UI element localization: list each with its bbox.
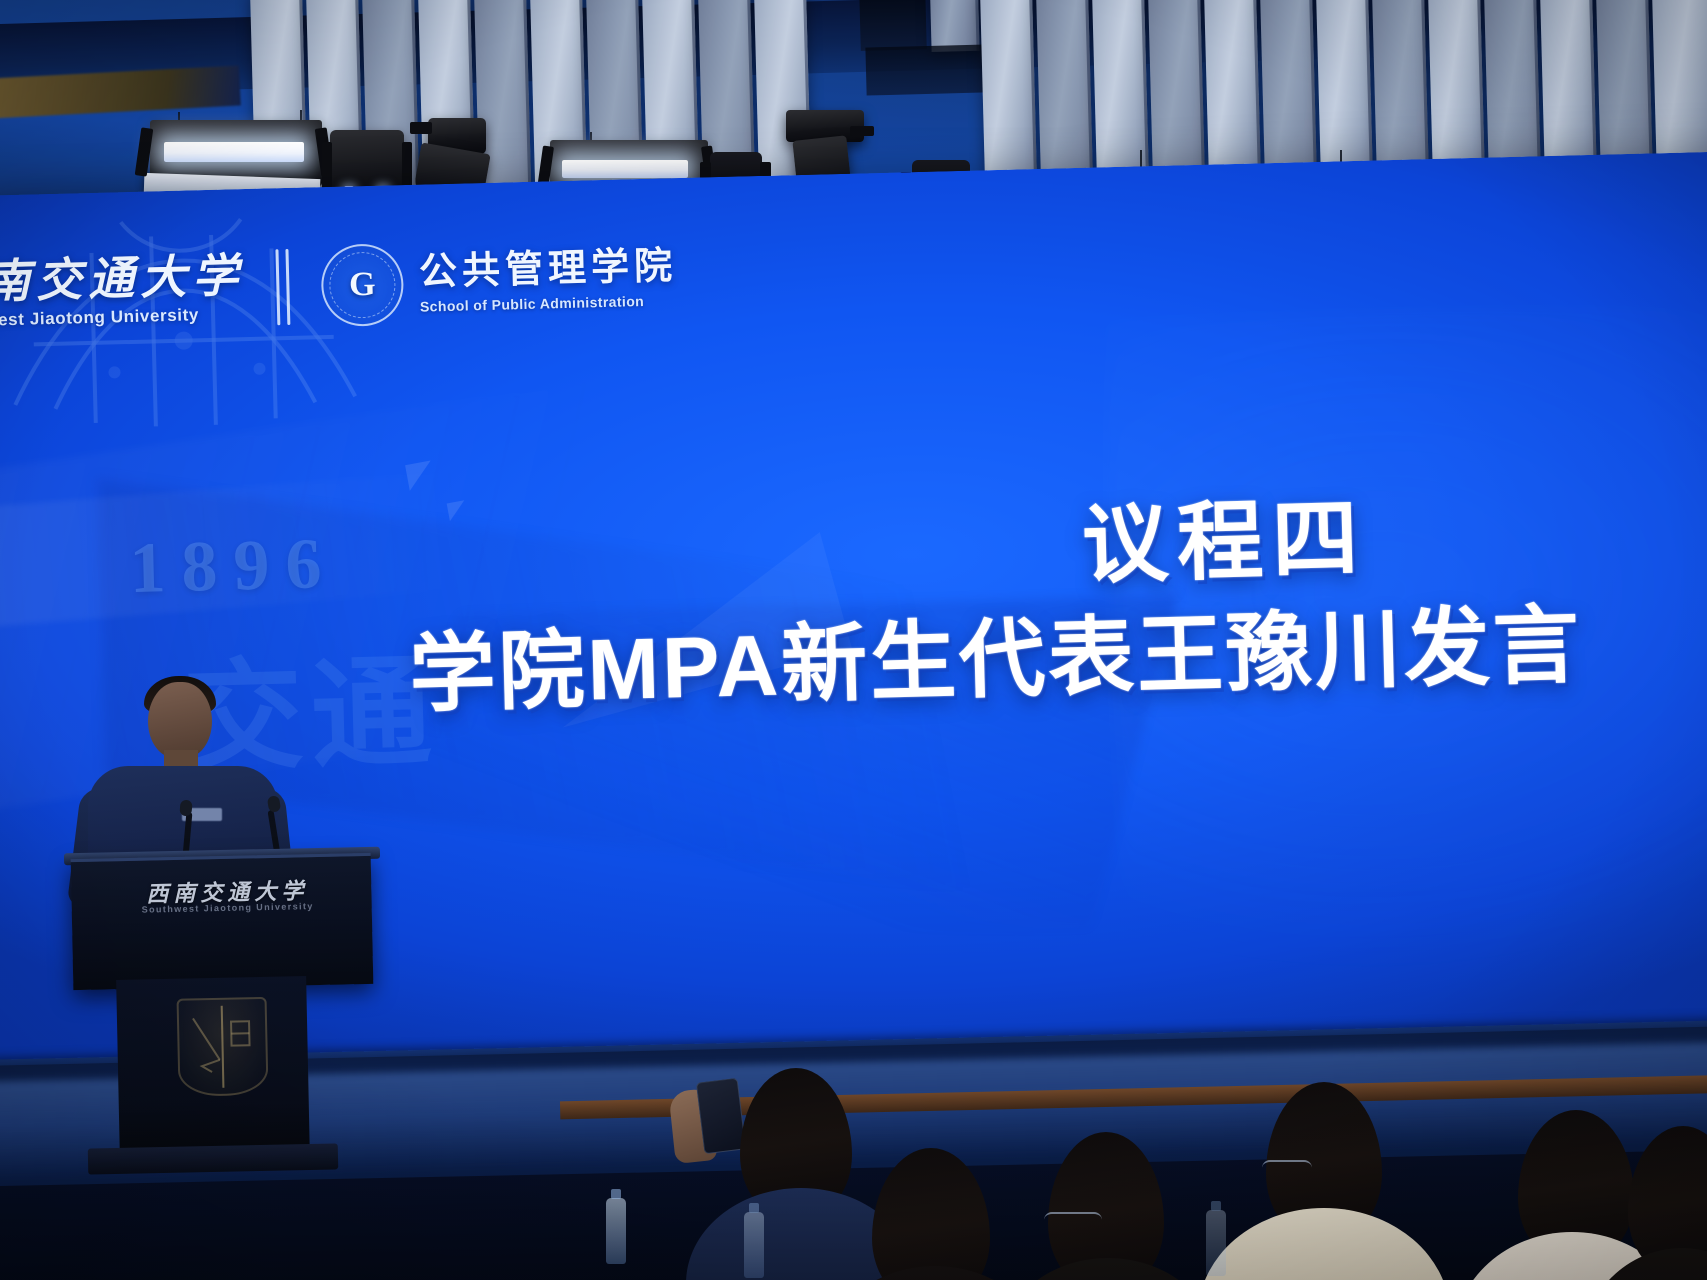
school-emblem-glyph: G — [349, 266, 376, 305]
school-name-en: School of Public Administration — [420, 292, 678, 315]
water-bottle — [1206, 1210, 1226, 1276]
water-bottle — [744, 1212, 764, 1278]
slide-chevron-motif — [405, 461, 435, 491]
ceiling-gap — [859, 0, 927, 51]
ceiling-gap — [865, 44, 986, 95]
audience-shoulders — [1198, 1208, 1450, 1280]
school-logo: G 公共管理学院 School of Public Administration — [320, 236, 678, 327]
eyeglasses — [1262, 1160, 1312, 1177]
audience-foreground — [0, 960, 1707, 1280]
seal-watermark — [0, 185, 397, 496]
branding-divider — [275, 249, 290, 325]
university-name-en: Southwest Jiaotong University — [0, 305, 199, 332]
speaker-head — [148, 682, 212, 758]
university-name-cn: 西南交通大学 — [0, 252, 245, 308]
school-name-cn: 公共管理学院 — [419, 247, 678, 295]
university-logo: 西南交通大学 Southwest Jiaotong University — [0, 252, 245, 332]
water-bottle — [606, 1198, 626, 1264]
audience-head — [872, 1148, 990, 1280]
conference-stage-photo: 1896 交通 西南 — [0, 0, 1707, 1280]
smartphone — [696, 1078, 746, 1155]
audience-shoulders — [1000, 1258, 1216, 1280]
school-emblem-icon: G — [320, 243, 404, 327]
eyeglasses — [1044, 1212, 1102, 1229]
slide-headline: 议程四 学院MPA新生代表王豫川发言 — [278, 485, 1583, 730]
